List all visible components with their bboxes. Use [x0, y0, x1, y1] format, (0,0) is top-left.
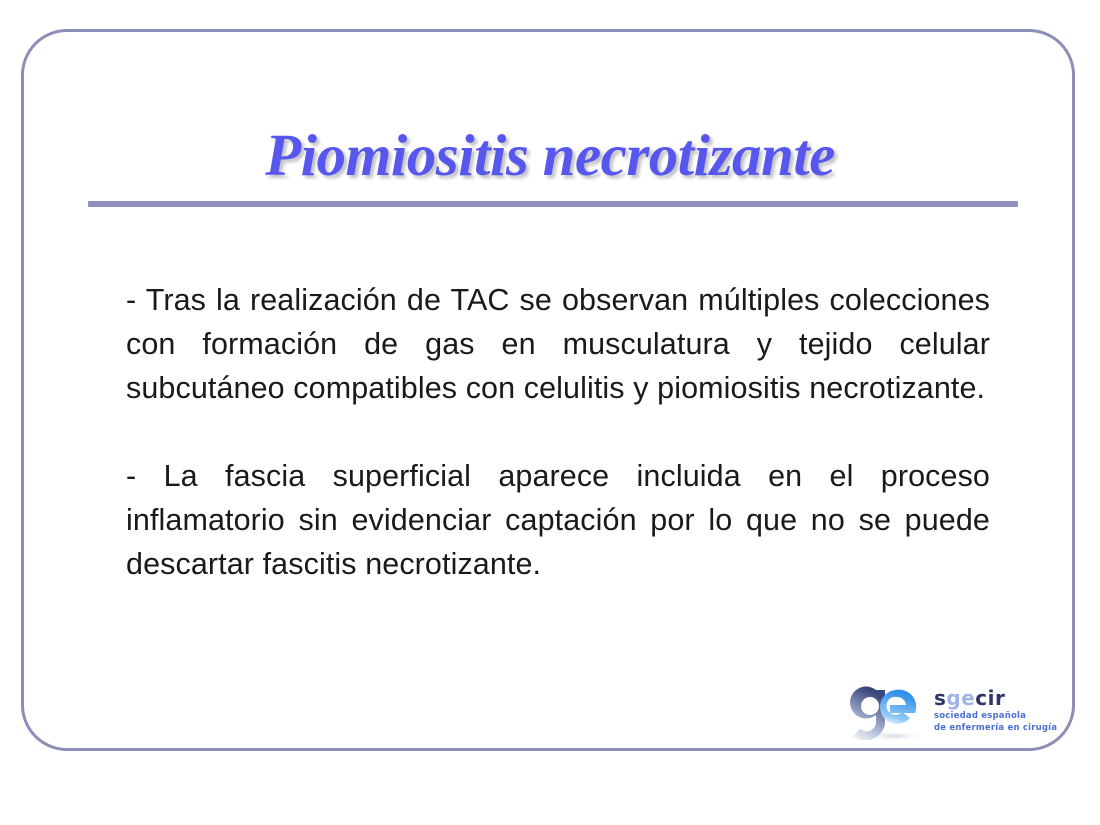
logo-wordmark: sgecir: [934, 688, 1046, 709]
organization-logo: sgecir sociedad española de enfermería e…: [846, 680, 1046, 748]
logo-tagline-line-2: de enfermería en cirugía: [934, 723, 1046, 733]
title-container: Piomiositis necrotizante: [0, 124, 1100, 187]
body-paragraph-2: - La fascia superficial aparece incluida…: [126, 454, 990, 586]
logo-wordmark-prefix: s: [934, 686, 946, 710]
title-divider: [88, 201, 1018, 207]
logo-tagline-line-1: sociedad española: [934, 711, 1046, 721]
body-content: - Tras la realización de TAC se observan…: [126, 278, 990, 586]
page-title: Piomiositis necrotizante: [265, 124, 835, 187]
slide: Piomiositis necrotizante - Tras la reali…: [0, 0, 1100, 825]
ge-logo-icon: [846, 680, 942, 740]
logo-wordmark-highlight: ge: [946, 686, 975, 710]
body-paragraph-1: - Tras la realización de TAC se observan…: [126, 278, 990, 410]
logo-text-block: sgecir sociedad española de enfermería e…: [934, 688, 1046, 733]
logo-wordmark-suffix: cir: [975, 686, 1005, 710]
